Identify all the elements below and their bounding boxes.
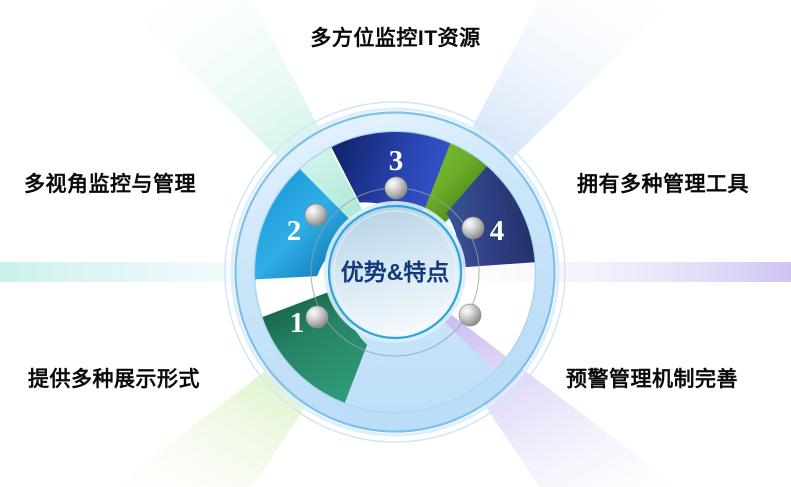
caption-top-left: 多视角监控与管理	[24, 168, 196, 198]
caption-top-right: 拥有多种管理工具	[577, 168, 749, 198]
caption-top: 多方位监控IT资源	[0, 22, 791, 52]
segment-number-2: 2	[287, 215, 302, 247]
marker-sphere-3[interactable]	[385, 177, 407, 199]
center-label: 优势&特点	[341, 259, 450, 285]
marker-sphere-5[interactable]	[459, 304, 481, 326]
segment-number-1: 1	[290, 307, 305, 339]
infographic-canvas: 优势&特点 1 2 3 4 5 多方位监控IT资源	[0, 0, 791, 487]
marker-sphere-2[interactable]	[305, 204, 327, 226]
wheel-group: 优势&特点 1 2 3 4 5	[225, 98, 565, 442]
caption-bottom-left: 提供多种展示形式	[28, 363, 200, 393]
marker-sphere-4[interactable]	[462, 217, 484, 239]
segment-number-5: 5	[492, 312, 507, 344]
caption-bottom-right: 预警管理机制完善	[566, 363, 738, 393]
segment-number-3: 3	[389, 145, 404, 177]
segment-number-4: 4	[490, 215, 505, 247]
marker-sphere-1[interactable]	[306, 306, 328, 328]
donut-wheel: 优势&特点 1 2 3 4 5	[0, 0, 791, 487]
